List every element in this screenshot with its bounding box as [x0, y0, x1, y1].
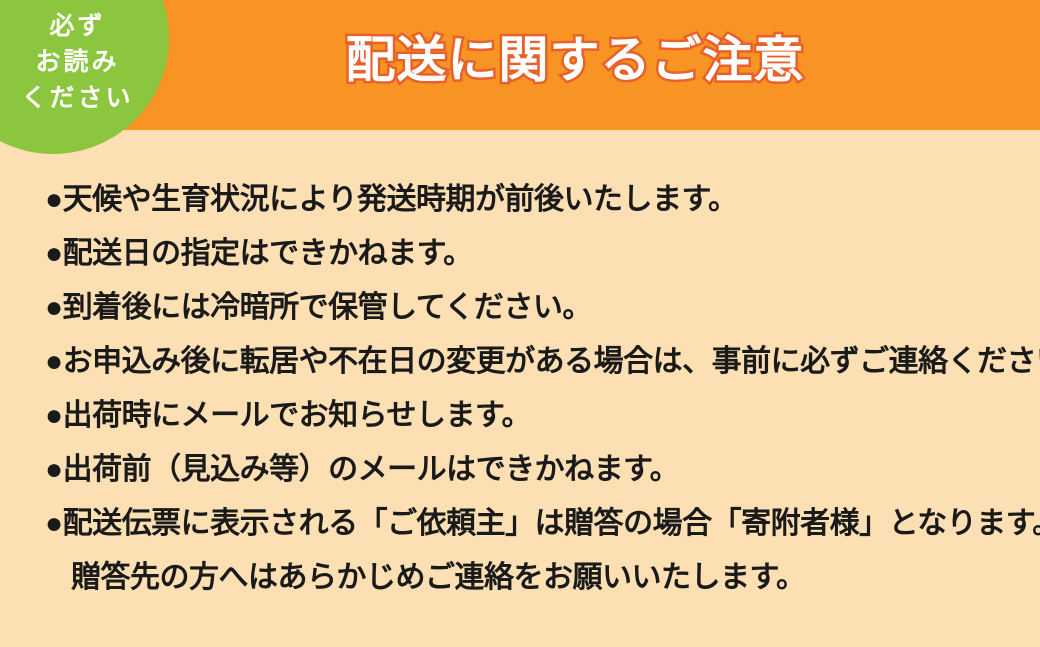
note-item: ●配送日の指定はできかねます。	[45, 227, 1035, 281]
note-item: ●出荷時にメールでお知らせします。	[45, 389, 1035, 443]
badge-line-1: 必ず	[0, 8, 152, 44]
note-item-continuation: 贈答先の方へはあらかじめご連絡をお願いいたします。	[45, 551, 1035, 605]
must-read-badge-text: 必ず お読み ください	[0, 8, 152, 116]
note-item: ●お申込み後に転居や不在日の変更がある場合は、事前に必ずご連絡ください。	[45, 335, 1035, 389]
badge-line-3: ください	[0, 80, 152, 116]
badge-line-2: お読み	[0, 44, 152, 80]
note-item: ●到着後には冷暗所で保管してください。	[45, 281, 1035, 335]
notes-list: ●天候や生育状況により発送時期が前後いたします。 ●配送日の指定はできかねます。…	[45, 173, 1035, 605]
note-item: ●天候や生育状況により発送時期が前後いたします。	[45, 173, 1035, 227]
note-item: ●出荷前（見込み等）のメールはできかねます。	[45, 443, 1035, 497]
shipping-notice-poster: 配送に関するご注意 必ず お読み ください ●天候や生育状況により発送時期が前後…	[0, 0, 1040, 647]
note-item: ●配送伝票に表示される「ご依頼主」は贈答の場合「寄附者様」となります。	[45, 497, 1035, 551]
